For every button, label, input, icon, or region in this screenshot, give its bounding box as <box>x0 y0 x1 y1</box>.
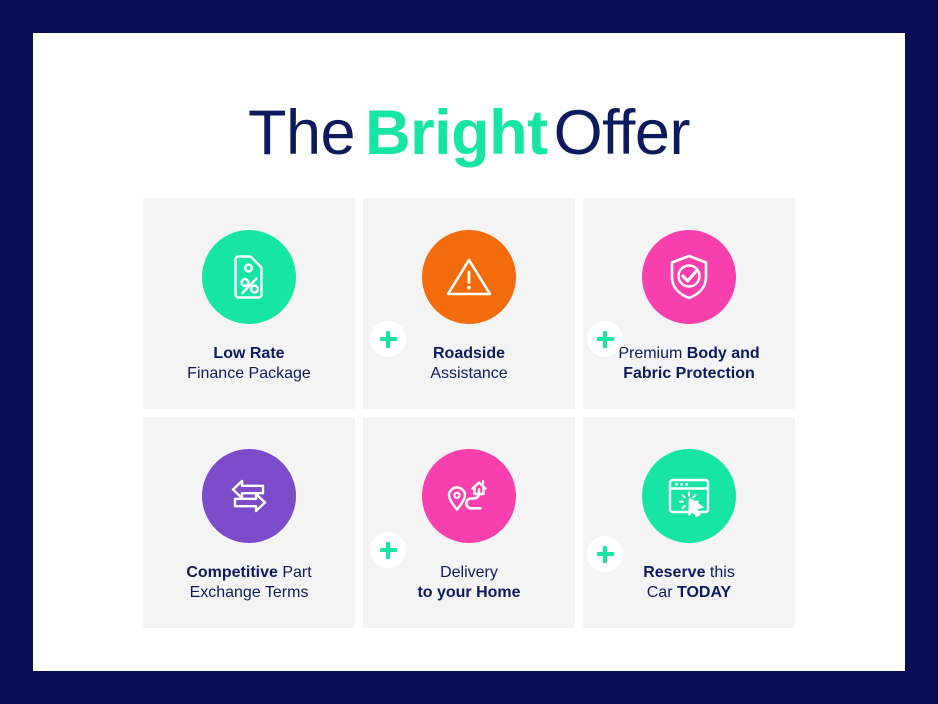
label-regular: this <box>705 564 734 581</box>
label-bold: Low Rate <box>213 345 284 362</box>
slide-canvas: TheBrightOffer Low Rate Finance Pac <box>0 0 938 704</box>
offer-card-label: Roadside Assistance <box>420 344 517 384</box>
label-bold: Body and <box>687 345 760 362</box>
plus-separator-icon <box>587 321 623 357</box>
title-word-the: The <box>248 98 355 168</box>
offer-card-body-fabric-protection[interactable]: Premium Body and Fabric Protection <box>583 198 795 409</box>
label-regular: Delivery <box>440 564 498 581</box>
route-home-pin-icon <box>422 449 516 543</box>
offer-card-label: Competitive Part Exchange Terms <box>176 563 321 603</box>
exchange-arrows-icon <box>202 449 296 543</box>
label-regular: Part <box>278 564 312 581</box>
offer-card-label: Low Rate Finance Package <box>177 344 321 384</box>
offer-card-label: Reserve this Car TODAY <box>633 563 745 603</box>
offer-card-label: Delivery to your Home <box>407 563 530 603</box>
plus-separator-icon <box>587 536 623 572</box>
label-bold: TODAY <box>677 584 731 601</box>
label-regular: Assistance <box>430 365 507 382</box>
label-bold: Competitive <box>186 564 278 581</box>
browser-click-icon <box>642 449 736 543</box>
shield-check-icon <box>642 230 736 324</box>
warning-triangle-icon <box>422 230 516 324</box>
page-title: TheBrightOffer <box>33 98 905 168</box>
label-bold: Fabric Protection <box>623 365 755 382</box>
content-panel: TheBrightOffer Low Rate Finance Pac <box>33 33 905 671</box>
plus-separator-icon <box>370 532 406 568</box>
offer-card-reserve-today[interactable]: Reserve this Car TODAY <box>583 417 795 628</box>
label-bold: Roadside <box>433 345 505 362</box>
title-word-offer: Offer <box>554 98 690 168</box>
plus-separator-icon <box>370 321 406 357</box>
label-regular: Car <box>647 584 677 601</box>
offer-card-low-rate-finance[interactable]: Low Rate Finance Package <box>143 198 355 409</box>
title-word-bright: Bright <box>355 98 553 168</box>
label-bold: to your Home <box>417 584 520 601</box>
offer-card-label: Premium Body and Fabric Protection <box>608 344 769 384</box>
label-regular: Finance Package <box>187 365 311 382</box>
label-bold: Reserve <box>643 564 705 581</box>
offer-card-home-delivery[interactable]: Delivery to your Home <box>363 417 575 628</box>
offer-card-part-exchange[interactable]: Competitive Part Exchange Terms <box>143 417 355 628</box>
offer-grid: Low Rate Finance Package Roadside Assist… <box>143 198 795 628</box>
price-tag-percent-icon <box>202 230 296 324</box>
label-regular: Exchange Terms <box>190 584 309 601</box>
offer-card-roadside-assistance[interactable]: Roadside Assistance <box>363 198 575 409</box>
label-regular: Premium <box>618 345 686 362</box>
